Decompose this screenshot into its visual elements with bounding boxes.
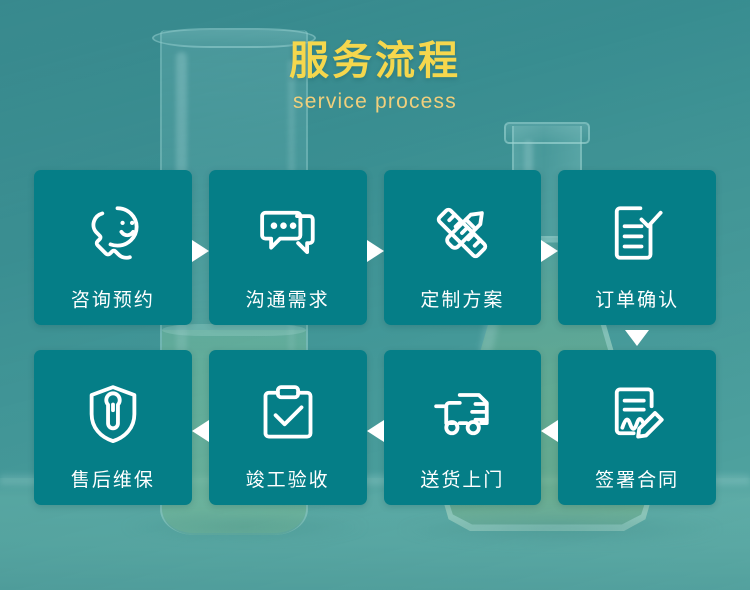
shield-wrench-icon: [75, 377, 151, 449]
pencil-ruler-icon: [424, 197, 500, 269]
page-subtitle: service process: [0, 90, 750, 114]
step-label: 签署合同: [595, 465, 679, 492]
step-label: 订单确认: [595, 285, 679, 312]
step-card-order-confirmation[interactable]: 订单确认: [558, 170, 716, 325]
step-label: 售后维保: [71, 465, 155, 492]
contract-pen-icon: [599, 377, 675, 449]
chat-bubbles-icon: [250, 197, 326, 269]
flask-lip: [504, 122, 590, 144]
step-label: 送货上门: [420, 465, 504, 492]
process-row-top: 咨询预约 沟通需求: [34, 170, 716, 325]
page-title: 服务流程: [0, 38, 750, 84]
arrow-down-icon: [625, 330, 649, 346]
step-label: 定制方案: [420, 285, 504, 312]
step-label: 沟通需求: [246, 285, 330, 312]
banner-header: 服务流程 service process: [0, 38, 750, 114]
arrow-right-icon: [541, 240, 558, 262]
arrow-left-icon: [367, 420, 384, 442]
process-step-grid: 咨询预约 沟通需求: [34, 170, 716, 505]
step-card-delivery[interactable]: 送货上门: [384, 350, 542, 505]
arrow-left-icon: [541, 420, 558, 442]
document-check-icon: [599, 197, 675, 269]
phone-smiley-icon: [75, 197, 151, 269]
step-card-custom-solution[interactable]: 定制方案: [384, 170, 542, 325]
step-card-communication[interactable]: 沟通需求: [209, 170, 367, 325]
arrow-right-icon: [192, 240, 209, 262]
arrow-right-icon: [367, 240, 384, 262]
delivery-truck-icon: [424, 377, 500, 449]
arrow-left-icon: [192, 420, 209, 442]
step-label: 咨询预约: [71, 285, 155, 312]
step-card-completion-acceptance[interactable]: 竣工验收: [209, 350, 367, 505]
beaker-shadow: [120, 512, 370, 542]
flask-shadow: [395, 512, 725, 546]
clipboard-check-icon: [250, 377, 326, 449]
step-card-after-sales[interactable]: 售后维保: [34, 350, 192, 505]
service-process-banner: 服务流程 service process 咨询预约: [0, 0, 750, 590]
process-row-bottom: 售后维保 竣工验收: [34, 350, 716, 505]
step-label: 竣工验收: [246, 465, 330, 492]
step-card-consultation[interactable]: 咨询预约: [34, 170, 192, 325]
step-card-sign-contract[interactable]: 签署合同: [558, 350, 716, 505]
